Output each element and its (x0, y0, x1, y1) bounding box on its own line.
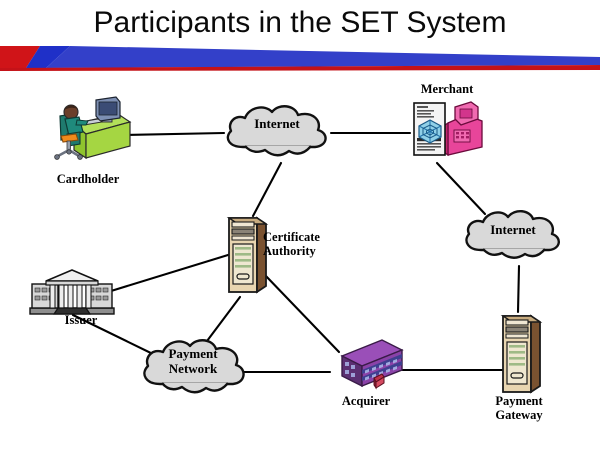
cloud-icon (219, 101, 335, 167)
edge-internet2-gateway (518, 266, 519, 312)
edge-cardholder-internet (122, 133, 224, 135)
node-payment-network[interactable] (136, 336, 250, 404)
slide-canvas: Participants in the SET System (0, 0, 600, 449)
person-at-desk-computer-icon (46, 92, 132, 162)
edge-issuer-ca (111, 255, 228, 291)
node-internet-right[interactable] (458, 206, 568, 268)
office-building-3d-icon (326, 336, 406, 394)
node-payment-gateway[interactable] (498, 312, 546, 394)
node-cardholder[interactable] (46, 92, 132, 162)
label-merchant: Merchant (397, 82, 497, 96)
cloud-icon (458, 206, 568, 268)
edge-ca-paymentnetwork (207, 297, 240, 341)
bank-building-icon (28, 268, 116, 318)
label-acquirer: Acquirer (320, 394, 412, 408)
node-acquirer[interactable] (326, 336, 406, 394)
label-issuer: Issuer (36, 313, 126, 327)
label-cardholder: Cardholder (38, 172, 138, 186)
node-issuer[interactable] (28, 268, 116, 318)
webpage-and-cash-register-icon (408, 97, 488, 163)
node-internet-left[interactable] (219, 101, 335, 167)
cloud-icon (136, 336, 250, 404)
label-certificate-authority: Certificate Authority (263, 230, 355, 259)
edge-internet-ca (253, 163, 281, 216)
node-merchant[interactable] (408, 97, 488, 163)
label-payment-gateway: Payment Gateway (472, 394, 566, 423)
server-tower-icon (498, 312, 546, 394)
